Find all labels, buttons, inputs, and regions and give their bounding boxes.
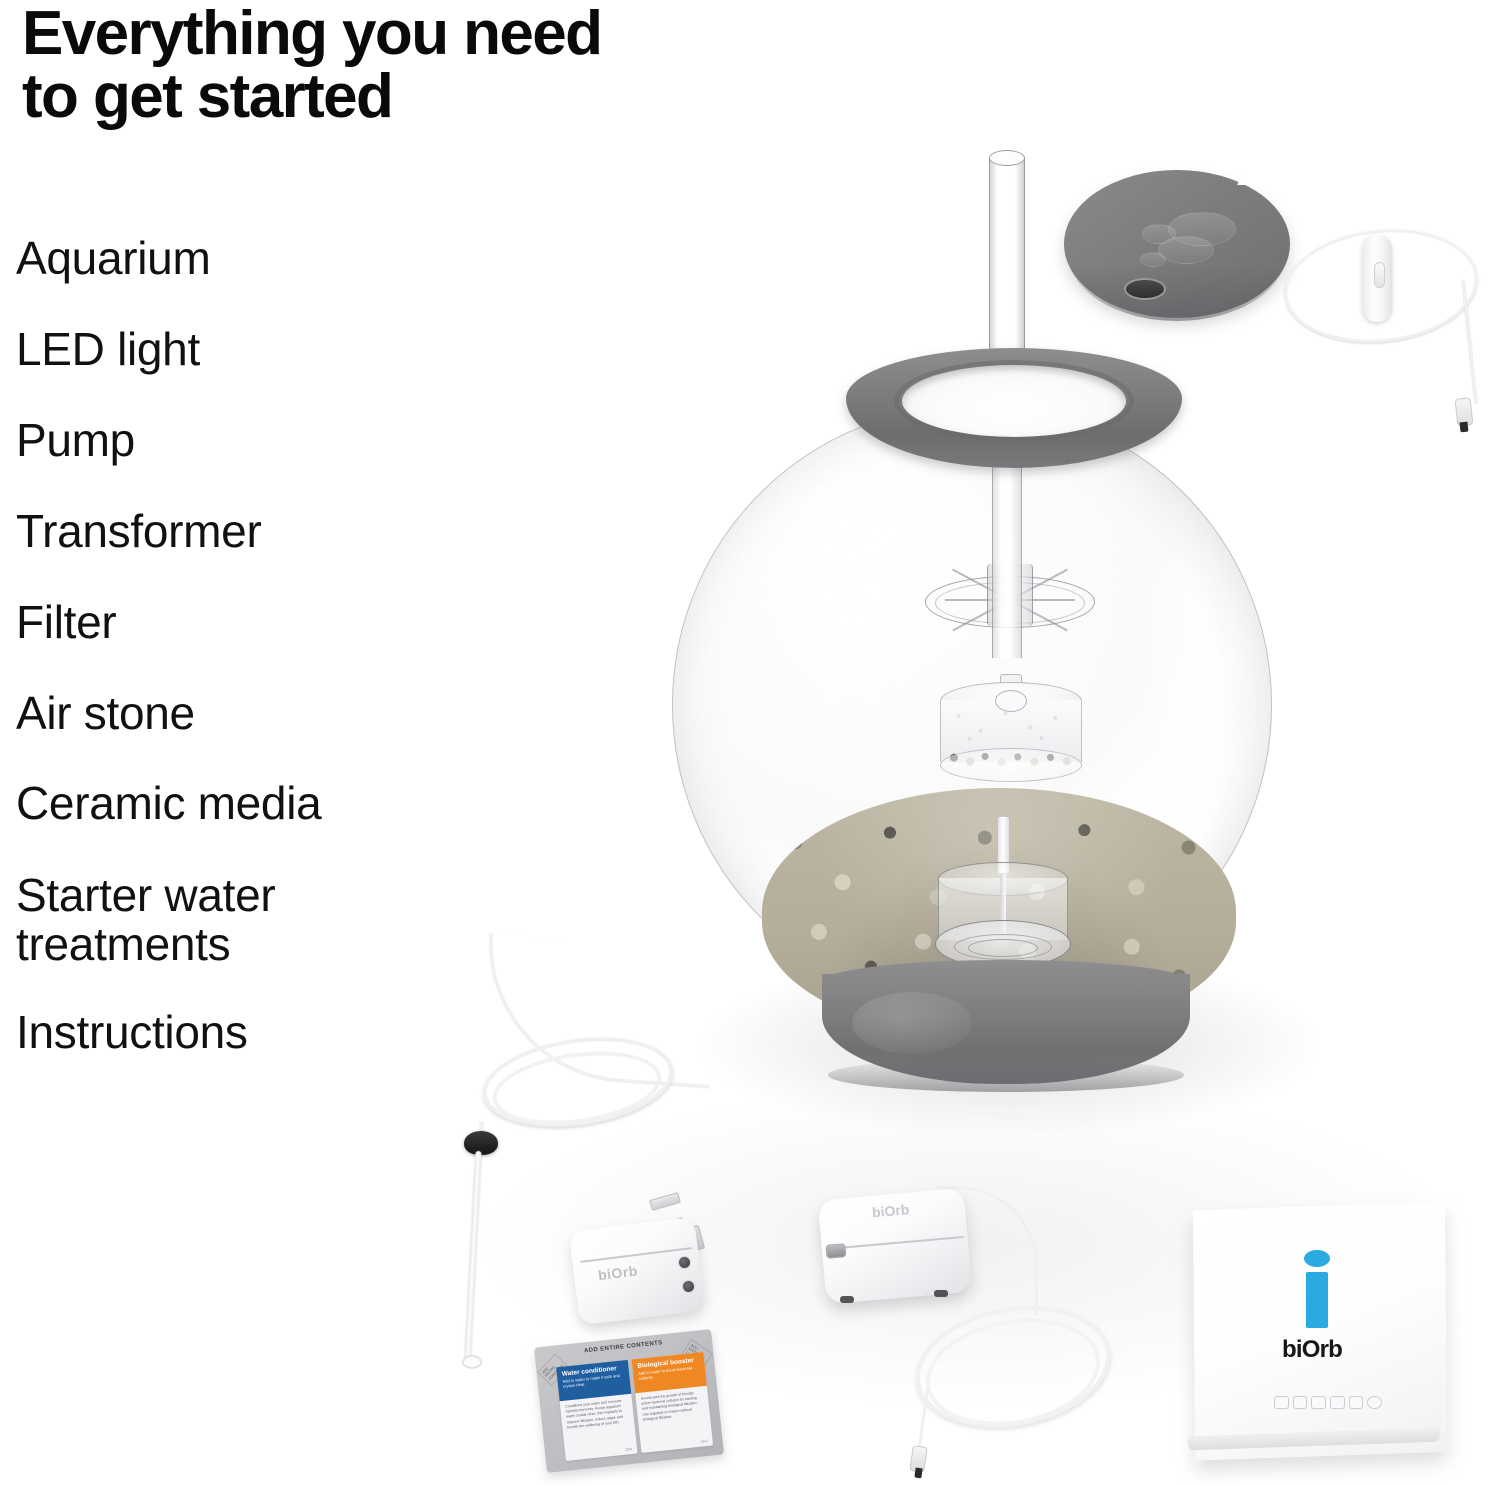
- booklet-cover: [1193, 1202, 1447, 1461]
- instruction-booklet: biOrb: [1186, 1206, 1454, 1474]
- pedestal-base: [822, 974, 1190, 1106]
- list-item: Filter: [16, 599, 476, 646]
- product-silhouette-icon: [1367, 1396, 1382, 1409]
- list-item: Ceramic media: [16, 780, 476, 827]
- air-pump-nozzle: [825, 1243, 846, 1259]
- product-silhouette-icon: [1330, 1396, 1345, 1409]
- bubble-motif-icon: [1140, 252, 1166, 267]
- collar-ring: [846, 348, 1182, 468]
- switch-rocker-icon[interactable]: [1374, 262, 1385, 288]
- one-way-valve: [464, 1131, 498, 1155]
- lid-cable-notch: [1237, 172, 1265, 185]
- panel-body-text: Conditions your water and removes harmfu…: [560, 1394, 635, 1435]
- air-stone-tip: [462, 1355, 482, 1369]
- product-silhouette-icon: [1349, 1396, 1364, 1409]
- collar-inner-rim: [894, 360, 1134, 442]
- aquarium-lid: [1064, 170, 1290, 318]
- list-item: Air stone: [16, 690, 476, 737]
- water-conditioner-panel: Water conditioner Add to water to make i…: [556, 1360, 637, 1461]
- intake-tube-opening: [989, 150, 1025, 166]
- air-stone-rod: [464, 1151, 481, 1363]
- water-treatment-sachet: ADD ENTIRE CONTENTS ADD ENTIRE CONTENTS …: [534, 1329, 724, 1473]
- filter-base-unit: [938, 862, 1068, 972]
- lid-feeding-port: [1124, 278, 1166, 300]
- bubble-motif-icon: [1142, 224, 1176, 244]
- booklet-product-icons: [1274, 1392, 1382, 1412]
- pedestal-lip: [828, 1058, 1184, 1092]
- panel-footnote: 15ml: [625, 1447, 632, 1452]
- info-i-stem-icon: [1306, 1272, 1328, 1328]
- filter-base-ring-inner: [968, 939, 1038, 957]
- air-pump-foot: [840, 1296, 854, 1303]
- pedestal-highlight: [852, 992, 972, 1054]
- list-item: Starter water treatments: [16, 871, 476, 969]
- booklet-brand-logo: biOrb: [1186, 1336, 1438, 1364]
- list-item: LED light: [16, 326, 476, 373]
- dc-connector-tip: [1459, 422, 1468, 433]
- page-title: Everything you need to get started: [22, 2, 601, 128]
- led-light-cable: [1278, 222, 1498, 432]
- product-silhouette-icon: [1274, 1396, 1289, 1409]
- cartridge-bottom: [940, 748, 1082, 782]
- list-item: Transformer: [16, 508, 476, 555]
- feature-list: Aquarium LED light Pump Transformer Filt…: [16, 235, 476, 1100]
- intake-tube-lower: [992, 448, 1022, 658]
- product-feature-image: Everything you need to get started Aquar…: [0, 0, 1500, 1486]
- cartridge-hub: [995, 690, 1027, 712]
- biological-booster-panel: Biological booster Add to water to boost…: [632, 1352, 713, 1453]
- list-item: Pump: [16, 417, 476, 464]
- panel-body-text: Accelerates the growth of friendly activ…: [635, 1386, 710, 1427]
- tubing-connector-tip: [914, 1468, 922, 1479]
- product-silhouette-icon: [1293, 1396, 1308, 1409]
- transformer-unit: biOrb: [572, 1196, 720, 1326]
- panel-footnote: 15ml: [701, 1439, 708, 1444]
- product-silhouette-icon: [1311, 1396, 1326, 1409]
- list-item: Aquarium: [16, 235, 476, 282]
- airline-tubing-coil: [905, 1296, 1120, 1476]
- list-item: Instructions: [16, 1009, 476, 1056]
- info-i-dot-icon: [1304, 1250, 1330, 1267]
- filter-cartridge: [940, 682, 1082, 790]
